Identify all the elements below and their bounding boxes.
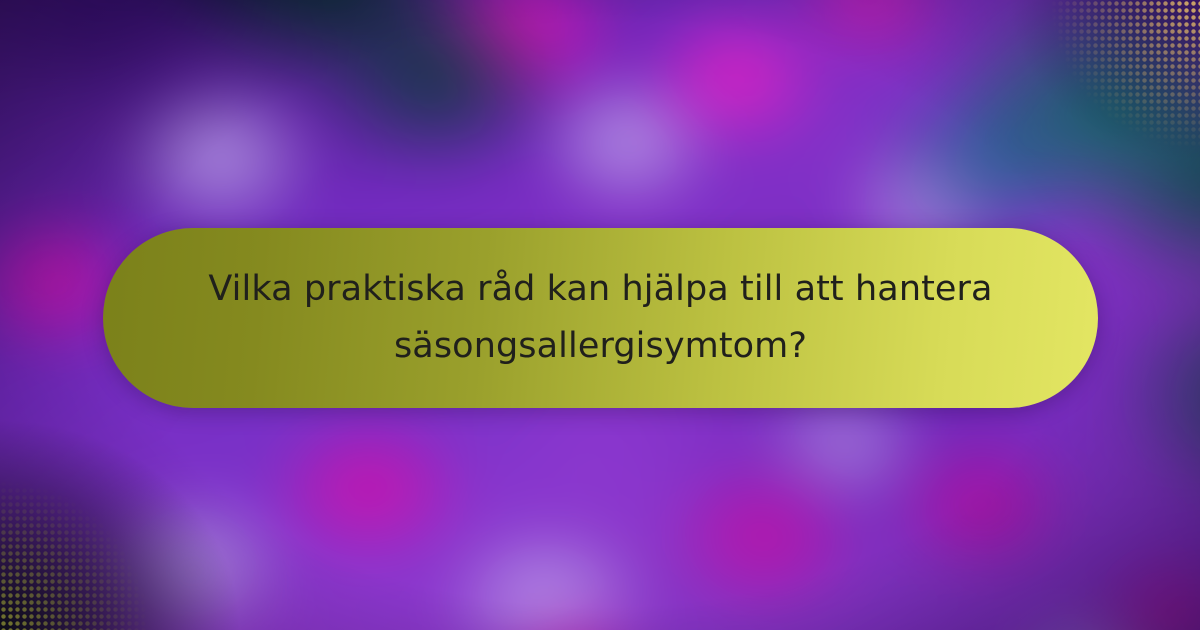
halftone-dots-bottom-left-icon (0, 480, 150, 630)
halftone-dots-top-right-icon (1050, 0, 1200, 150)
question-text: Vilka praktiska råd kan hjälpa till att … (199, 261, 1002, 374)
question-pill-banner: Vilka praktiska råd kan hjälpa till att … (103, 228, 1098, 408)
social-share-card: Vilka praktiska råd kan hjälpa till att … (0, 0, 1200, 630)
